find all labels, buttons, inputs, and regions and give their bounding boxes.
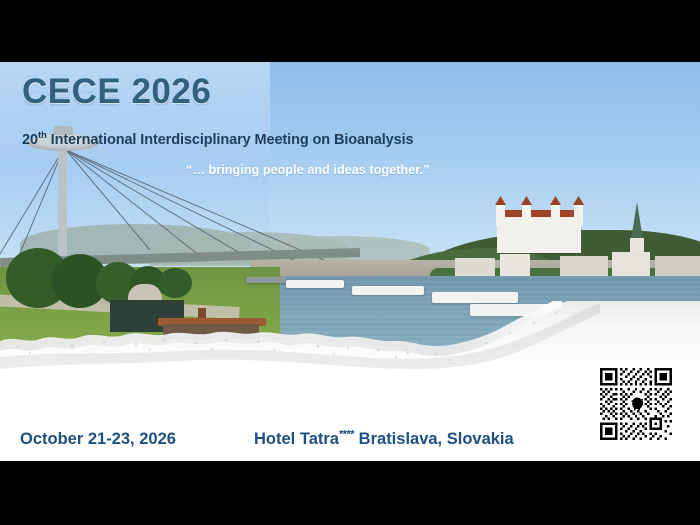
castle-tower [496, 204, 505, 226]
conference-qr-code[interactable] [600, 368, 672, 440]
riverside-building [455, 258, 495, 276]
qr-code-icon[interactable] [600, 368, 672, 440]
subtitle-ordinal-suffix: th [38, 130, 47, 141]
subtitle-edition-number: 20 [22, 132, 38, 148]
riverside-building [500, 254, 530, 276]
riverside-building [655, 256, 700, 276]
river-boat [286, 280, 344, 288]
castle-tower [551, 204, 560, 226]
page-title: CECE 2026 [22, 74, 211, 109]
letterbox-top [0, 0, 700, 62]
meeting-subtitle: 20th International Interdisciplinary Mee… [22, 132, 413, 148]
river-boat [352, 286, 424, 295]
riverside-building [560, 256, 608, 276]
river-boat [246, 277, 286, 283]
letterbox-bottom [0, 461, 700, 525]
venue-name: Hotel Tatra [254, 430, 339, 448]
event-venue: Hotel Tatra**** Bratislava, Slovakia [254, 430, 514, 449]
riverside-building [612, 252, 650, 276]
river-boat [470, 304, 566, 316]
venue-star-rating: **** [339, 429, 354, 441]
castle-tower [522, 204, 531, 226]
river-boat [432, 292, 518, 303]
conference-poster: CECE 2026 CECE 2026 20th International I… [0, 0, 700, 525]
pier-railing [264, 354, 356, 358]
park-tree [158, 268, 192, 298]
event-date: October 21-23, 2026 [20, 430, 176, 449]
meeting-tagline: “… bringing people and ideas together.” [186, 163, 430, 177]
subtitle-text: International Interdisciplinary Meeting … [47, 132, 414, 148]
footer-bar: October 21-23, 2026 Hotel Tatra**** Brat… [0, 422, 700, 461]
venue-location: Bratislava, Slovakia [354, 430, 514, 448]
castle-tower [574, 204, 583, 226]
poster-banner: CECE 2026 CECE 2026 20th International I… [0, 62, 700, 461]
bratislava-castle [497, 217, 581, 253]
